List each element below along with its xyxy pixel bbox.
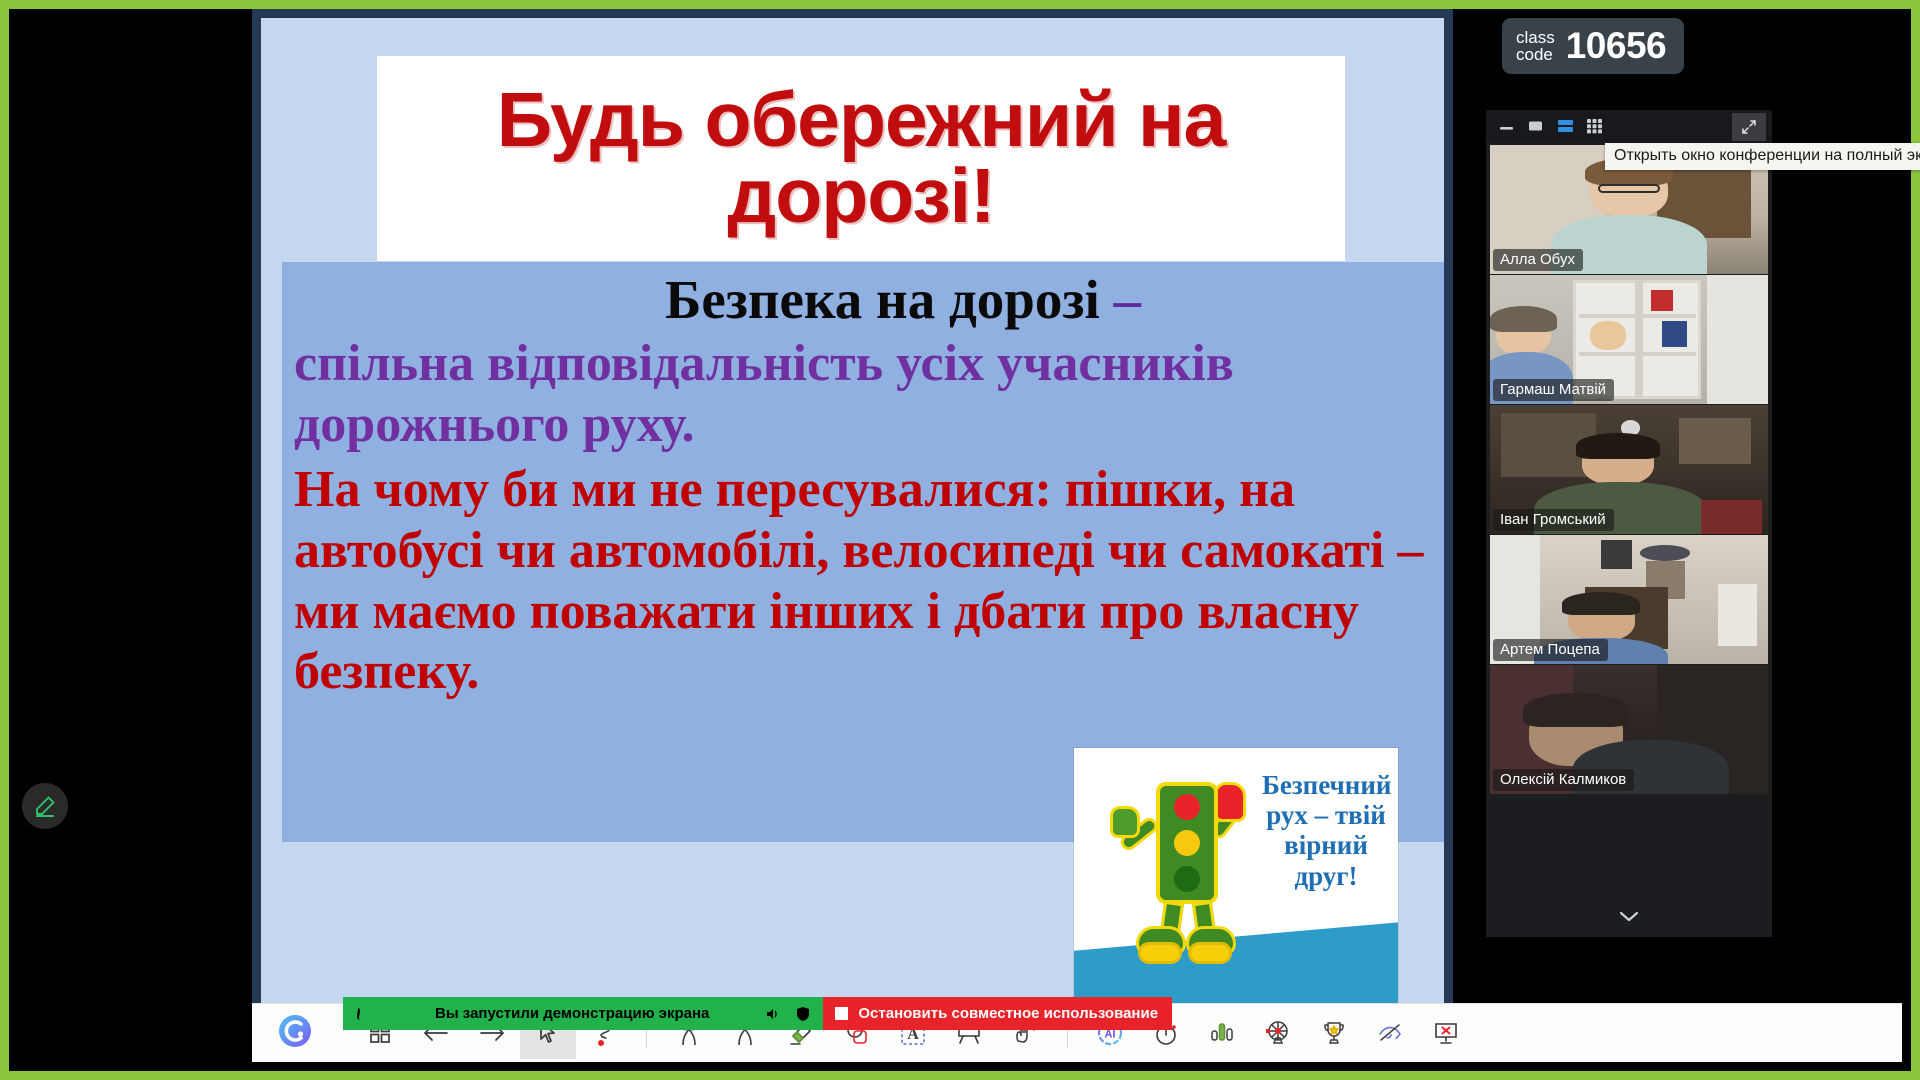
gallery-view-button[interactable]: [1583, 117, 1605, 135]
participant-tile-active-speaker[interactable]: Іван Громський: [1490, 405, 1768, 534]
classdojo-circle-logo[interactable]: [278, 1014, 312, 1053]
hide-annotations-button[interactable]: [1362, 1007, 1418, 1059]
participant-tiles: Алла Обух Гармаш Матвій: [1486, 142, 1772, 794]
slide-red-paragraph: На чому би ми не пересувалися: пішки, на…: [294, 460, 1444, 703]
slide-lead-black: Безпека на дорозі: [665, 269, 1100, 330]
participant-tile[interactable]: Олексій Калмиков: [1490, 665, 1768, 794]
show-more-participants-button[interactable]: [1486, 895, 1772, 937]
class-code-badge[interactable]: class code 10656: [1502, 18, 1684, 74]
shared-screen-frame: Будь обережний на дорозі! Безпека на дор…: [252, 9, 1453, 1021]
speaker-view-button[interactable]: [1554, 117, 1576, 135]
class-code-value: 10656: [1566, 25, 1666, 67]
participant-name: Алла Обух: [1493, 249, 1583, 271]
presentation-slide: Будь обережний на дорозі! Безпека на дор…: [261, 18, 1444, 1021]
slide-purple-paragraph: спільна відповідальність усіх учасників …: [294, 334, 1444, 456]
phone-up-icon: [353, 1006, 369, 1022]
slide-title-banner: Будь обережний на дорозі!: [377, 56, 1345, 261]
slide-title: Будь обережний на дорозі!: [377, 83, 1345, 234]
speaker-icon[interactable]: [765, 1006, 781, 1022]
participant-tile[interactable]: Артем Поцепа: [1490, 535, 1768, 664]
illustration-caption: Безпечний рух – твій вірний друг!: [1262, 770, 1390, 891]
restore-button[interactable]: [1525, 117, 1547, 135]
awards-button[interactable]: [1306, 1007, 1362, 1059]
screen-share-bar: Вы запустили демонстрацию экрана Останов…: [343, 997, 1172, 1030]
stop-share-label: Остановить совместное использование: [858, 1005, 1158, 1022]
participant-name: Олексій Калмиков: [1493, 769, 1634, 791]
app-screen: Будь обережний на дорозі! Безпека на дор…: [0, 0, 1920, 1080]
shield-icon[interactable]: [795, 1006, 811, 1022]
stop-share-button[interactable]: Остановить совместное использование: [823, 997, 1172, 1030]
annotate-button[interactable]: [22, 783, 68, 829]
random-picker-button[interactable]: [1250, 1007, 1306, 1059]
class-code-label: class code: [1516, 29, 1555, 64]
svg-text:AI: AI: [1105, 1029, 1116, 1041]
exit-presentation-button[interactable]: [1418, 1007, 1474, 1059]
screen-share-status-text: Вы запустили демонстрацию экрана: [383, 1005, 751, 1022]
poll-button[interactable]: [1194, 1007, 1250, 1059]
participant-name: Артем Поцепа: [1493, 639, 1608, 661]
class-code-label-line1: class: [1516, 29, 1555, 46]
slide-lead-line: Безпека на дорозі –: [294, 268, 1444, 332]
class-code-label-line2: code: [1516, 46, 1555, 63]
participant-tile[interactable]: Гармаш Матвій: [1490, 275, 1768, 404]
zoom-participants-panel: Алла Обух Гармаш Матвій: [1486, 110, 1772, 937]
slide-lead-dash: –: [1100, 269, 1141, 330]
expand-diagonal-icon[interactable]: [1732, 113, 1766, 141]
participant-name: Іван Громський: [1493, 509, 1614, 531]
stop-square-icon: [835, 1007, 848, 1020]
traffic-light-mascot-icon: [1110, 774, 1260, 974]
minimize-button[interactable]: [1496, 117, 1518, 135]
zoom-window-controls: [1486, 110, 1772, 142]
traffic-light-illustration: Безпечний рух – твій вірний друг!: [1074, 748, 1398, 1008]
participant-name: Гармаш Матвій: [1493, 379, 1614, 401]
zoom-expand-tooltip: Открыть окно конференции на полный экран: [1605, 143, 1920, 170]
screen-share-status: Вы запустили демонстрацию экрана: [343, 997, 823, 1030]
